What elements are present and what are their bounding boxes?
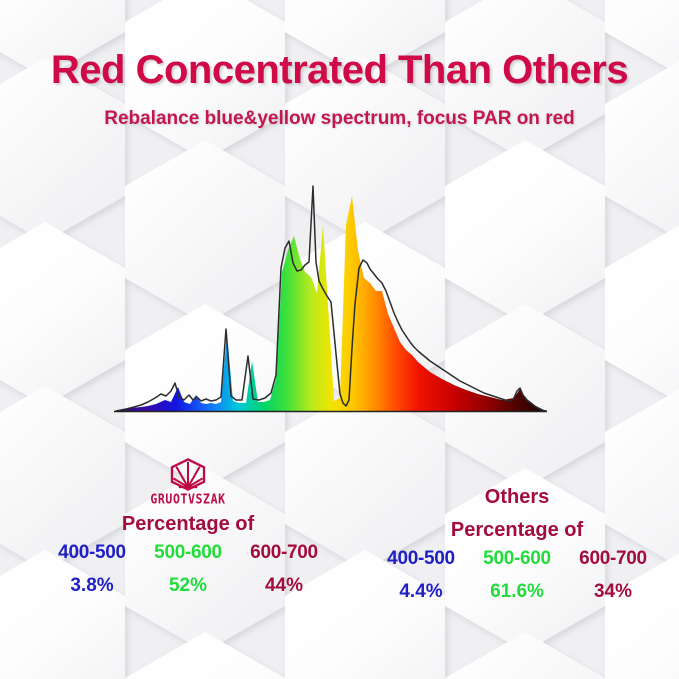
- band-value-400-500: 4.4%: [373, 581, 469, 603]
- hexagon-starburst-logo-icon: [169, 458, 207, 491]
- band-value-500-600: 52%: [140, 575, 236, 597]
- percentage-caption-right: Percentage of: [372, 517, 662, 543]
- band-labels-left: 400-500 500-600 600-700: [38, 542, 338, 564]
- others-heading: Others: [372, 482, 662, 512]
- page-subtitle: Rebalance blue&yellow spectrum, focus PA…: [0, 108, 679, 130]
- band-label-400-500: 400-500: [373, 548, 469, 570]
- poster-root: Red Concentrated Than Others Rebalance b…: [0, 0, 679, 679]
- band-value-600-700: 34%: [565, 581, 661, 603]
- percentage-caption-left: Percentage of: [38, 511, 338, 537]
- band-value-400-500: 3.8%: [44, 575, 140, 597]
- band-labels-right: 400-500 500-600 600-700: [372, 548, 662, 570]
- panel-others: Others Percentage of 400-500 500-600 600…: [372, 482, 662, 603]
- page-title: Red Concentrated Than Others: [0, 48, 679, 93]
- spectral-distribution-chart: [0, 150, 679, 425]
- band-label-600-700: 600-700: [565, 548, 661, 570]
- band-values-right: 4.4% 61.6% 34%: [372, 581, 662, 603]
- band-value-500-600: 61.6%: [469, 581, 565, 603]
- band-value-600-700: 44%: [236, 575, 332, 597]
- brand-logo: GRUOTVSZAK: [38, 458, 338, 506]
- band-label-500-600: 500-600: [469, 548, 565, 570]
- band-label-500-600: 500-600: [140, 542, 236, 564]
- panel-gruotvszak: GRUOTVSZAK Percentage of 400-500 500-600…: [38, 458, 338, 597]
- band-label-400-500: 400-500: [44, 542, 140, 564]
- brand-wordmark: GRUOTVSZAK: [150, 491, 225, 507]
- band-values-left: 3.8% 52% 44%: [38, 575, 338, 597]
- band-label-600-700: 600-700: [236, 542, 332, 564]
